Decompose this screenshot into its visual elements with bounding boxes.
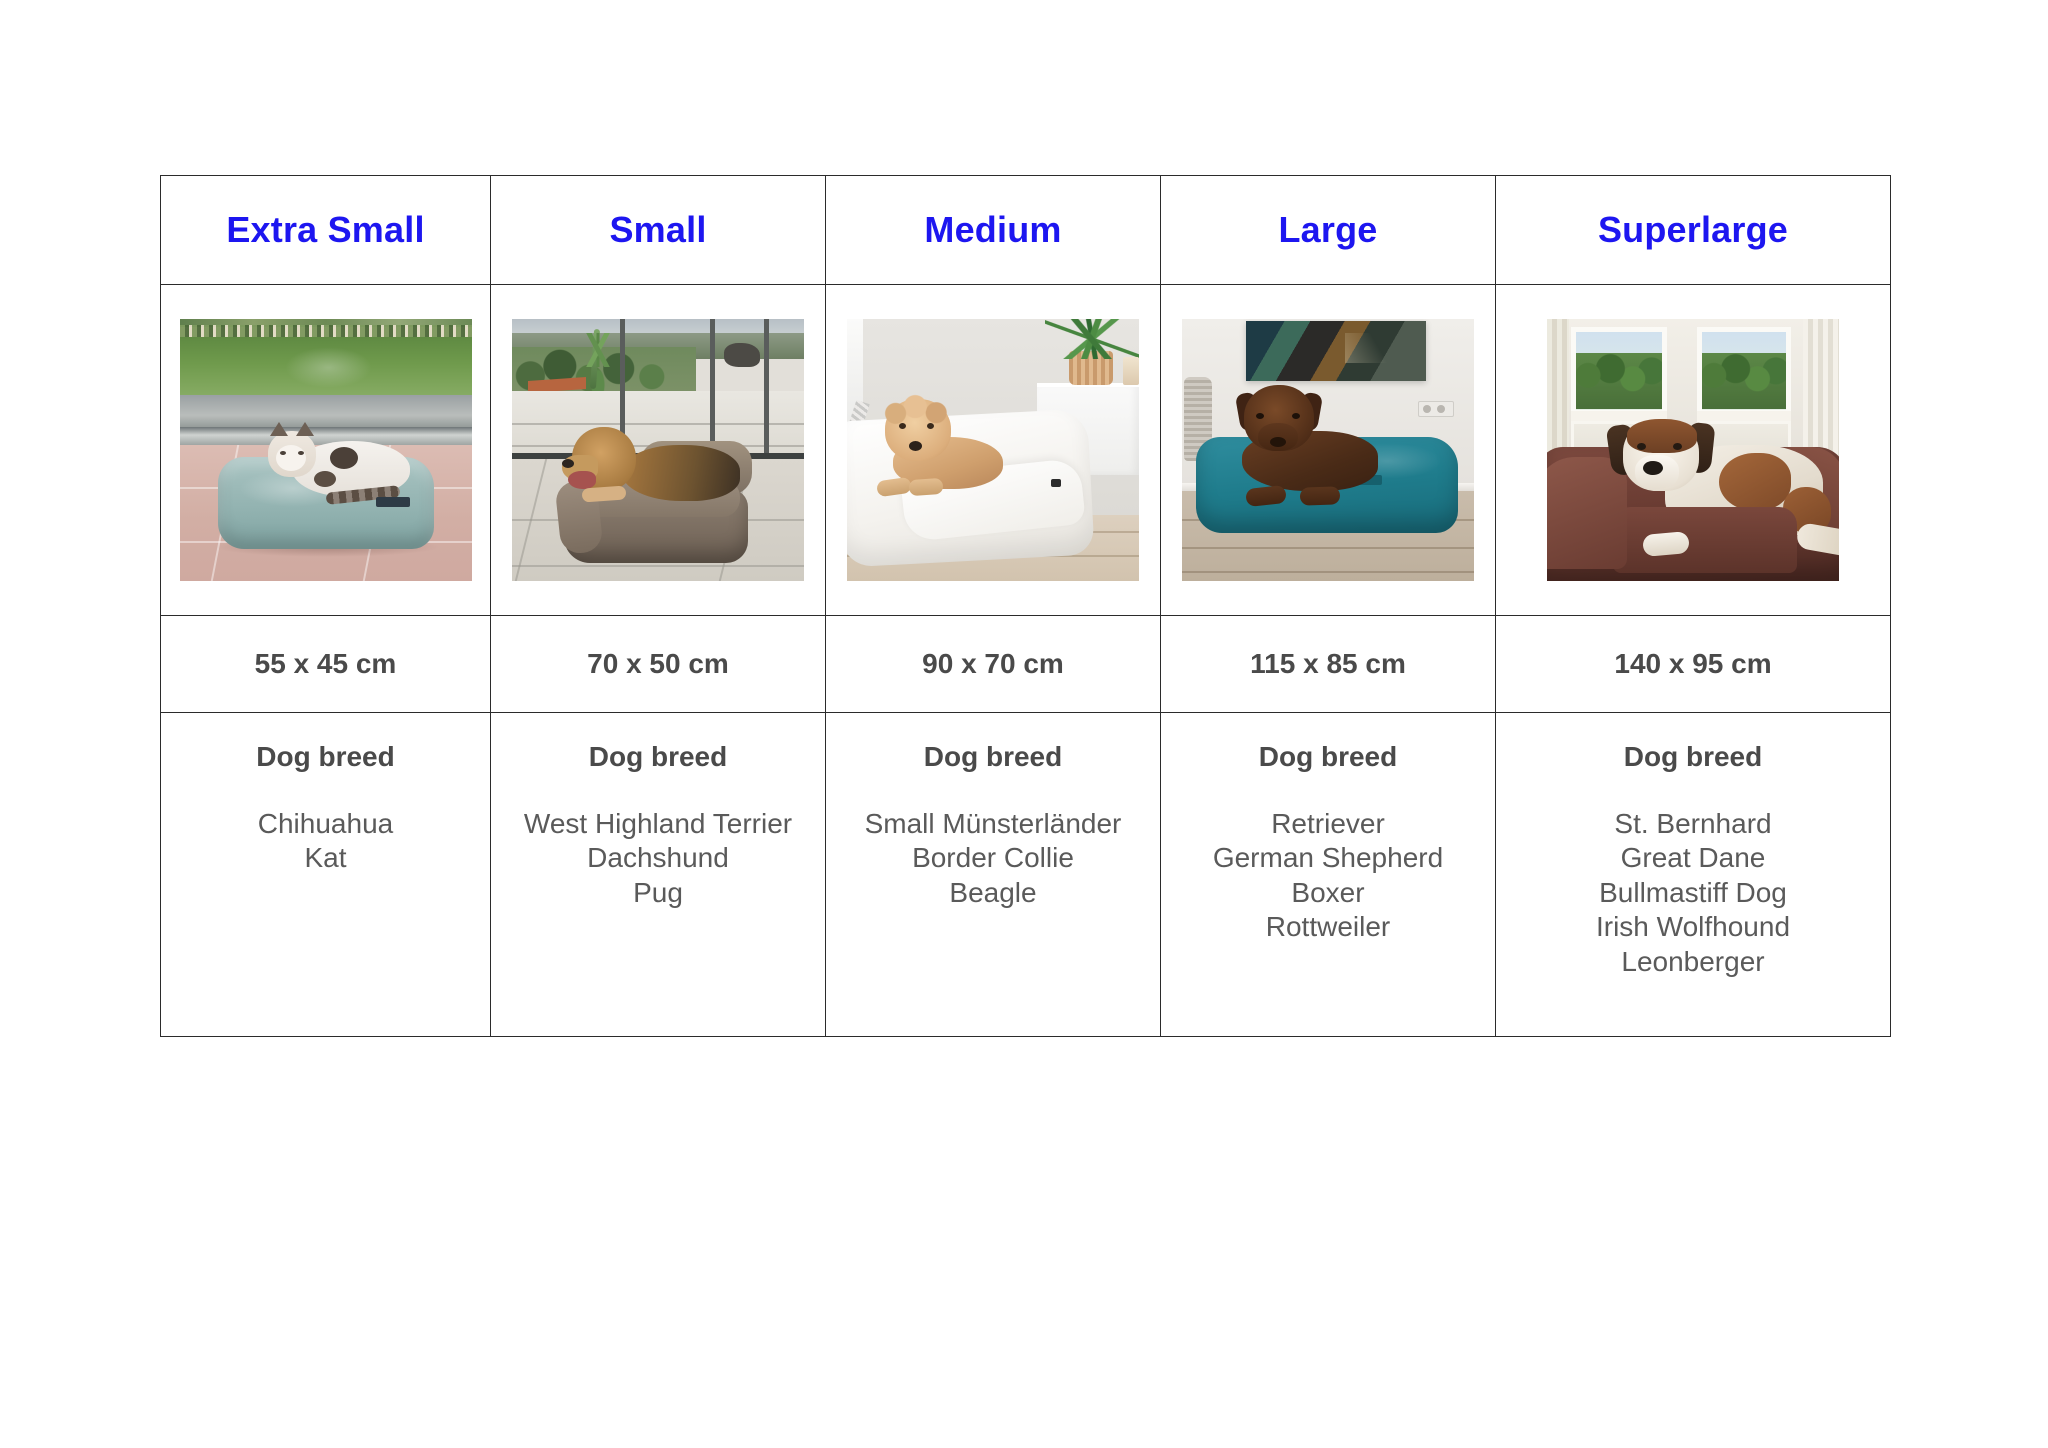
background-pavement xyxy=(180,395,472,429)
breed-item: Irish Wolfhound xyxy=(1496,910,1890,944)
table-header-row: Extra Small Small Medium Large Superlarg… xyxy=(161,176,1891,285)
header-cell-small: Small xyxy=(491,176,826,285)
breeds-cell-extra-small: Dog breed Chihuahua Kat xyxy=(161,713,491,1037)
green-plant xyxy=(1045,319,1139,359)
dog-open-mouth xyxy=(568,471,596,489)
background-hedge xyxy=(1702,353,1786,409)
breed-item: Boxer xyxy=(1161,876,1495,910)
product-photo-superlarge xyxy=(1547,319,1839,581)
bed-brand-label xyxy=(376,497,410,507)
header-cell-medium: Medium xyxy=(826,176,1161,285)
dog-eye xyxy=(1256,413,1264,419)
photo-cell-extra-small xyxy=(161,285,491,616)
dog-eye xyxy=(1292,413,1300,419)
dog-eye xyxy=(899,423,906,429)
dog-bed-bolster xyxy=(1547,457,1627,569)
breed-heading-extra-small: Dog breed xyxy=(161,741,490,773)
breed-item: West Highland Terrier xyxy=(491,807,825,841)
breed-item: Dachshund xyxy=(491,841,825,875)
dog-nose xyxy=(1270,437,1286,447)
dog-nose xyxy=(909,441,922,451)
page-canvas: Extra Small Small Medium Large Superlarg… xyxy=(0,0,2048,1448)
bed-brand-label xyxy=(1051,479,1061,487)
dog-nose xyxy=(562,459,574,468)
breed-item: Chihuahua xyxy=(161,807,490,841)
breed-item: Retriever xyxy=(1161,807,1495,841)
breed-heading-superlarge: Dog breed xyxy=(1496,741,1890,773)
table-breeds-row: Dog breed Chihuahua Kat Dog breed West H… xyxy=(161,713,1891,1037)
dimensions-extra-small: 55 x 45 cm xyxy=(161,648,490,680)
breed-list-small: West Highland Terrier Dachshund Pug xyxy=(491,807,825,910)
breed-item: Great Dane xyxy=(1496,841,1890,875)
background-palm-plant xyxy=(574,329,622,391)
size-name-medium: Medium xyxy=(826,210,1160,250)
dimensions-superlarge: 140 x 95 cm xyxy=(1496,648,1890,680)
breed-item: Small Münsterländer xyxy=(826,807,1160,841)
table-dimensions-row: 55 x 45 cm 70 x 50 cm 90 x 70 cm 115 x 8… xyxy=(161,616,1891,713)
tile-grout-line xyxy=(512,565,804,567)
dimensions-medium: 90 x 70 cm xyxy=(826,648,1160,680)
cat-fur-patch xyxy=(330,447,358,469)
breed-item: Bullmastiff Dog xyxy=(1496,876,1890,910)
breeds-cell-medium: Dog breed Small Münsterländer Border Col… xyxy=(826,713,1161,1037)
cat-face xyxy=(276,445,306,471)
dog-eye xyxy=(1673,443,1682,450)
dimensions-cell-superlarge: 140 x 95 cm xyxy=(1496,616,1891,713)
window-frame-mullion xyxy=(710,319,715,459)
dog-bed-size-table: Extra Small Small Medium Large Superlarg… xyxy=(160,175,1891,1037)
photo-wrap-superlarge xyxy=(1496,319,1890,581)
dog-eye xyxy=(1637,443,1646,450)
dog-bed-seat xyxy=(1613,507,1797,573)
dog-nose xyxy=(1643,461,1663,475)
product-photo-extra-small xyxy=(180,319,472,581)
wall-socket xyxy=(1418,401,1454,417)
breed-item: Pug xyxy=(491,876,825,910)
photo-cell-medium xyxy=(826,285,1161,616)
header-cell-large: Large xyxy=(1161,176,1496,285)
photo-cell-superlarge xyxy=(1496,285,1891,616)
breed-heading-large: Dog breed xyxy=(1161,741,1495,773)
background-rock xyxy=(724,343,760,367)
breed-item: Rottweiler xyxy=(1161,910,1495,944)
table-photo-row xyxy=(161,285,1891,616)
breed-list-extra-small: Chihuahua Kat xyxy=(161,807,490,876)
dimensions-large: 115 x 85 cm xyxy=(1161,648,1495,680)
candle xyxy=(1123,357,1139,385)
photo-cell-small xyxy=(491,285,826,616)
size-name-extra-small: Extra Small xyxy=(161,210,490,250)
window-sill xyxy=(1697,411,1791,421)
size-name-superlarge: Superlarge xyxy=(1496,210,1890,250)
photo-wrap-medium xyxy=(826,319,1160,581)
dimensions-cell-extra-small: 55 x 45 cm xyxy=(161,616,491,713)
photo-wrap-large xyxy=(1161,319,1495,581)
dog-eye xyxy=(927,423,934,429)
dog-paw xyxy=(908,478,943,496)
header-cell-extra-small: Extra Small xyxy=(161,176,491,285)
size-name-large: Large xyxy=(1161,210,1495,250)
breed-heading-medium: Dog breed xyxy=(826,741,1160,773)
floor-plank-line xyxy=(1182,547,1474,549)
product-photo-large xyxy=(1182,319,1474,581)
dimensions-cell-small: 70 x 50 cm xyxy=(491,616,826,713)
cat-fur-patch xyxy=(314,471,336,487)
breed-item: German Shepherd xyxy=(1161,841,1495,875)
dog-fur-patch xyxy=(1719,453,1791,511)
breeds-cell-large: Dog breed Retriever German Shepherd Boxe… xyxy=(1161,713,1496,1037)
background-grass xyxy=(180,337,472,395)
dimensions-cell-medium: 90 x 70 cm xyxy=(826,616,1161,713)
breed-list-medium: Small Münsterländer Border Collie Beagle xyxy=(826,807,1160,910)
terrace-tile-line xyxy=(512,423,804,425)
photo-wrap-extra-small xyxy=(161,319,490,581)
dimensions-small: 70 x 50 cm xyxy=(491,648,825,680)
cat-eye xyxy=(298,451,304,455)
photo-cell-large xyxy=(1161,285,1496,616)
floor-plank-line xyxy=(1182,571,1474,573)
breeds-cell-small: Dog breed West Highland Terrier Dachshun… xyxy=(491,713,826,1037)
product-photo-small xyxy=(512,319,804,581)
background-hedge xyxy=(1576,353,1662,409)
photo-wrap-small xyxy=(491,319,825,581)
dimensions-cell-large: 115 x 85 cm xyxy=(1161,616,1496,713)
wall-artwork xyxy=(1246,321,1426,381)
cat-eye xyxy=(280,451,286,455)
breed-item: Leonberger xyxy=(1496,945,1890,979)
header-cell-superlarge: Superlarge xyxy=(1496,176,1891,285)
window-frame-mullion xyxy=(764,319,769,459)
breed-item: Kat xyxy=(161,841,490,875)
breed-list-superlarge: St. Bernhard Great Dane Bullmastiff Dog … xyxy=(1496,807,1890,979)
dog-paw xyxy=(1300,486,1341,505)
product-photo-medium xyxy=(847,319,1139,581)
dog-curly-fur xyxy=(883,393,953,427)
size-name-small: Small xyxy=(491,210,825,250)
breed-item: Border Collie xyxy=(826,841,1160,875)
breeds-cell-superlarge: Dog breed St. Bernhard Great Dane Bullma… xyxy=(1496,713,1891,1037)
breed-item: St. Bernhard xyxy=(1496,807,1890,841)
dog-body xyxy=(622,445,740,501)
breed-list-large: Retriever German Shepherd Boxer Rottweil… xyxy=(1161,807,1495,945)
breed-heading-small: Dog breed xyxy=(491,741,825,773)
breed-item: Beagle xyxy=(826,876,1160,910)
